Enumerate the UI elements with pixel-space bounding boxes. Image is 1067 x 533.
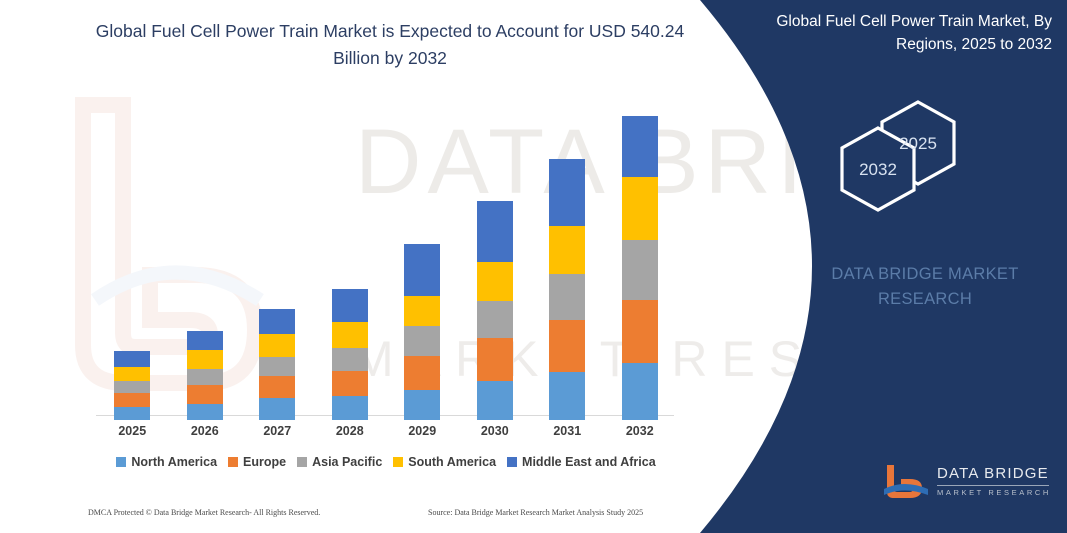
legend-label: Europe	[243, 455, 286, 469]
bar-segment	[549, 274, 585, 320]
bar-segment	[332, 322, 368, 348]
hexagon-label-2032: 2032	[843, 160, 913, 180]
bar-group-2031	[531, 100, 604, 420]
bar-group-2027	[241, 100, 314, 420]
bar-segment	[622, 363, 658, 420]
bar-segment	[622, 240, 658, 300]
bar-segment	[622, 116, 658, 177]
bar-segment	[114, 381, 150, 393]
legend-label: South America	[408, 455, 496, 469]
bar-segment	[259, 376, 295, 398]
x-axis-label-2031: 2031	[531, 424, 604, 438]
logo-secondary-text: MARKET RESEARCH	[937, 488, 1051, 497]
bar-group-2032	[604, 100, 677, 420]
stacked-bar[interactable]	[549, 159, 585, 420]
legend-label: North America	[131, 455, 217, 469]
bar-segment	[404, 356, 440, 390]
bar-segment	[549, 159, 585, 227]
legend-swatch-icon	[228, 457, 238, 467]
chart-legend: North AmericaEuropeAsia PacificSouth Ame…	[96, 455, 676, 469]
legend-label: Middle East and Africa	[522, 455, 656, 469]
bar-segment	[114, 367, 150, 381]
bar-segment	[259, 309, 295, 334]
bar-segment	[477, 201, 513, 262]
logo-mark-icon	[880, 462, 932, 504]
bar-segment	[549, 372, 585, 420]
hexagon-shapes	[820, 98, 990, 213]
bar-segment	[622, 300, 658, 363]
bar-segment	[477, 381, 513, 420]
legend-item[interactable]: Europe	[228, 455, 286, 469]
legend-item[interactable]: South America	[393, 455, 496, 469]
logo-divider	[937, 485, 1049, 486]
bar-group-2030	[459, 100, 532, 420]
stacked-bar[interactable]	[404, 244, 440, 420]
stacked-bar[interactable]	[477, 201, 513, 420]
bar-segment	[404, 296, 440, 326]
bar-group-2028	[314, 100, 387, 420]
bar-group-2025	[96, 100, 169, 420]
legend-swatch-icon	[297, 457, 307, 467]
bar-segment	[187, 404, 223, 420]
legend-swatch-icon	[393, 457, 403, 467]
legend-swatch-icon	[507, 457, 517, 467]
legend-swatch-icon	[116, 457, 126, 467]
bar-segment	[259, 334, 295, 357]
bar-segment	[114, 351, 150, 366]
x-axis-label-2029: 2029	[386, 424, 459, 438]
x-axis-label-2027: 2027	[241, 424, 314, 438]
data-bridge-logo: DATA BRIDGE MARKET RESEARCH	[880, 462, 1052, 506]
bar-segment	[114, 393, 150, 407]
bar-segment	[477, 301, 513, 338]
bar-segment	[549, 320, 585, 372]
x-axis-label-2026: 2026	[169, 424, 242, 438]
bar-segment	[404, 390, 440, 420]
bar-segment	[622, 177, 658, 240]
bar-group-2029	[386, 100, 459, 420]
bar-segment	[187, 385, 223, 404]
stacked-bar[interactable]	[114, 351, 150, 420]
x-axis-label-2028: 2028	[314, 424, 387, 438]
hexagon-label-2025: 2025	[883, 134, 953, 154]
bar-segment	[259, 398, 295, 420]
stacked-bar-chart	[96, 100, 676, 420]
bar-segment	[187, 331, 223, 351]
stacked-bar[interactable]	[332, 289, 368, 420]
legend-item[interactable]: Middle East and Africa	[507, 455, 656, 469]
bar-segment	[332, 371, 368, 396]
bar-segment	[404, 244, 440, 296]
x-axis-label-2032: 2032	[604, 424, 677, 438]
stacked-bar[interactable]	[622, 116, 658, 420]
bar-segment	[332, 396, 368, 420]
x-axis-label-2030: 2030	[459, 424, 532, 438]
brand-name-text: DATA BRIDGE MARKET RESEARCH	[800, 262, 1050, 312]
page-title: Global Fuel Cell Power Train Market is E…	[90, 18, 690, 72]
logo-primary-text: DATA BRIDGE	[937, 465, 1049, 482]
bar-segment	[477, 338, 513, 380]
hexagon-group: 2025 2032	[820, 98, 990, 213]
bar-segment	[332, 289, 368, 322]
legend-label: Asia Pacific	[312, 455, 382, 469]
bar-segment	[259, 357, 295, 376]
legend-item[interactable]: North America	[116, 455, 217, 469]
bar-segment	[187, 369, 223, 384]
footer-copyright: DMCA Protected © Data Bridge Market Rese…	[88, 508, 320, 517]
x-axis-labels: 20252026202720282029203020312032	[96, 424, 674, 446]
footer-source: Source: Data Bridge Market Research Mark…	[428, 508, 643, 517]
stacked-bar[interactable]	[259, 309, 295, 420]
bar-segment	[404, 326, 440, 355]
panel-title: Global Fuel Cell Power Train Market, By …	[742, 10, 1052, 57]
x-axis-label-2025: 2025	[96, 424, 169, 438]
bar-segment	[114, 407, 150, 420]
bar-segment	[187, 350, 223, 369]
infographic-canvas: DATA BRIDGE MARKET RESEARCH Global Fuel …	[0, 0, 1067, 533]
bar-segment	[549, 226, 585, 274]
bar-segment	[332, 348, 368, 371]
bar-group-2026	[169, 100, 242, 420]
legend-item[interactable]: Asia Pacific	[297, 455, 382, 469]
stacked-bar[interactable]	[187, 331, 223, 420]
bar-segment	[477, 262, 513, 301]
